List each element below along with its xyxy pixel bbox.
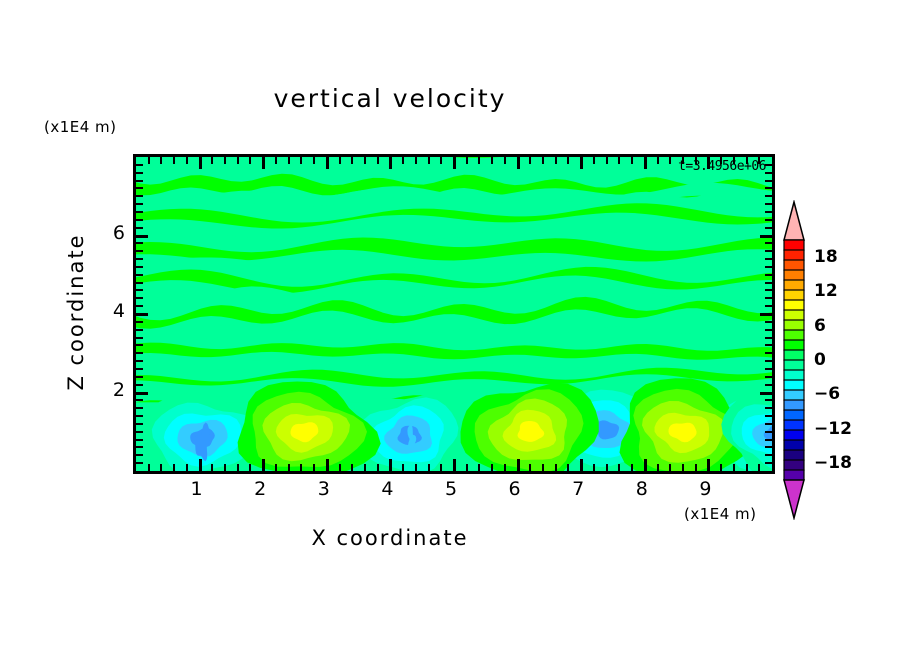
x-tick-major: [262, 459, 265, 471]
colorbar-tick-label: 0: [814, 350, 826, 370]
x-tick-minor: [606, 157, 608, 164]
x-tick-minor: [466, 157, 468, 164]
y-tick-minor: [765, 431, 772, 433]
x-tick-minor: [440, 157, 442, 164]
y-tick-minor: [136, 242, 143, 244]
y-tick-minor: [765, 219, 772, 221]
x-tick-label: 5: [445, 478, 457, 500]
y-tick-minor: [765, 172, 772, 174]
colorbar-band: [784, 460, 804, 470]
x-tick-minor: [300, 464, 302, 471]
y-tick-minor: [136, 203, 143, 205]
x-tick-minor: [555, 464, 557, 471]
y-tick-label: 2: [103, 379, 125, 401]
x-tick-minor: [669, 464, 671, 471]
x-tick-minor: [148, 464, 150, 471]
y-tick-major: [760, 392, 772, 395]
colorbar-tick-label: 12: [814, 281, 838, 301]
colorbar-band: [784, 250, 804, 260]
x-tick-minor: [351, 157, 353, 164]
y-tick-minor: [136, 211, 143, 213]
y-axis-title: Z coordinate: [64, 212, 88, 412]
y-tick-minor: [765, 415, 772, 417]
x-tick-major: [580, 157, 583, 169]
colorbar-tick-label: 18: [814, 247, 838, 267]
colorbar-band: [784, 430, 804, 440]
y-tick-minor: [765, 211, 772, 213]
x-tick-minor: [160, 464, 162, 471]
y-tick-minor: [136, 219, 143, 221]
y-tick-major: [136, 392, 148, 395]
x-tick-minor: [275, 464, 277, 471]
x-tick-minor: [173, 157, 175, 164]
x-tick-minor: [148, 157, 150, 164]
y-tick-minor: [136, 274, 143, 276]
x-tick-major: [453, 157, 456, 169]
y-tick-minor: [136, 454, 143, 456]
x-tick-minor: [402, 157, 404, 164]
colorbar-band: [784, 320, 804, 330]
y-tick-minor: [765, 282, 772, 284]
y-tick-minor: [136, 266, 143, 268]
y-tick-minor: [765, 384, 772, 386]
x-tick-minor: [237, 464, 239, 471]
colorbar-band: [784, 370, 804, 380]
colorbar-band: [784, 450, 804, 460]
y-tick-minor: [765, 227, 772, 229]
x-tick-minor: [402, 464, 404, 471]
y-tick-minor: [136, 180, 143, 182]
y-tick-minor: [136, 368, 143, 370]
y-tick-minor: [765, 187, 772, 189]
colorbar: [782, 200, 806, 520]
x-tick-label: 4: [381, 478, 393, 500]
x-tick-minor: [377, 157, 379, 164]
colorbar-band: [784, 360, 804, 370]
y-tick-minor: [765, 407, 772, 409]
y-tick-minor: [136, 423, 143, 425]
y-tick-minor: [765, 274, 772, 276]
x-tick-minor: [606, 464, 608, 471]
x-tick-major: [199, 157, 202, 169]
x-tick-major: [517, 459, 520, 471]
x-tick-major: [389, 157, 392, 169]
y-tick-minor: [765, 195, 772, 197]
colorbar-tick-label: 6: [814, 316, 826, 336]
x-tick-major: [453, 459, 456, 471]
y-tick-minor: [765, 289, 772, 291]
x-tick-label: 8: [636, 478, 648, 500]
x-tick-minor: [567, 157, 569, 164]
x-tick-minor: [275, 157, 277, 164]
colorbar-band: [784, 290, 804, 300]
y-tick-minor: [136, 439, 143, 441]
x-tick-major: [707, 459, 710, 471]
x-tick-major: [199, 459, 202, 471]
x-tick-minor: [758, 464, 760, 471]
colorbar-band: [784, 340, 804, 350]
x-tick-minor: [618, 464, 620, 471]
x-tick-minor: [720, 464, 722, 471]
x-tick-major: [389, 459, 392, 471]
x-tick-minor: [657, 464, 659, 471]
y-tick-minor: [136, 337, 143, 339]
y-tick-minor: [765, 352, 772, 354]
colorbar-over-arrow: [784, 202, 804, 240]
x-tick-major: [262, 157, 265, 169]
colorbar-band: [784, 380, 804, 390]
x-tick-minor: [593, 464, 595, 471]
y-tick-minor: [765, 203, 772, 205]
colorbar-band: [784, 410, 804, 420]
colorbar-tick-label: −18: [814, 453, 852, 473]
x-tick-minor: [224, 157, 226, 164]
y-tick-major: [760, 235, 772, 238]
x-tick-minor: [428, 157, 430, 164]
y-tick-minor: [136, 384, 143, 386]
y-tick-minor: [765, 368, 772, 370]
x-tick-minor: [491, 464, 493, 471]
colorbar-under-arrow: [784, 480, 804, 518]
x-tick-minor: [733, 464, 735, 471]
x-tick-minor: [504, 464, 506, 471]
x-tick-minor: [491, 157, 493, 164]
y-tick-label: 6: [103, 222, 125, 244]
y-tick-minor: [765, 250, 772, 252]
x-tick-minor: [593, 157, 595, 164]
x-tick-major: [517, 157, 520, 169]
x-tick-minor: [746, 464, 748, 471]
colorbar-band: [784, 260, 804, 270]
x-tick-minor: [249, 157, 251, 164]
y-tick-minor: [136, 462, 143, 464]
x-tick-major: [326, 459, 329, 471]
x-tick-label: 1: [191, 478, 203, 500]
y-tick-minor: [765, 399, 772, 401]
x-tick-minor: [415, 464, 417, 471]
colorbar-swatches: [782, 200, 806, 520]
x-tick-minor: [631, 464, 633, 471]
colorbar-tick-label: −6: [814, 384, 840, 404]
x-tick-minor: [211, 157, 213, 164]
colorbar-band: [784, 280, 804, 290]
y-tick-minor: [136, 289, 143, 291]
colorbar-band: [784, 390, 804, 400]
x-tick-minor: [504, 157, 506, 164]
x-tick-minor: [339, 157, 341, 164]
x-tick-label: 6: [509, 478, 521, 500]
y-tick-minor: [136, 282, 143, 284]
y-tick-minor: [765, 446, 772, 448]
page-title: vertical velocity: [0, 84, 780, 113]
x-tick-minor: [682, 464, 684, 471]
colorbar-band: [784, 330, 804, 340]
x-tick-label: 9: [699, 478, 711, 500]
y-tick-minor: [765, 462, 772, 464]
y-tick-minor: [136, 329, 143, 331]
x-tick-major: [644, 459, 647, 471]
y-tick-minor: [765, 164, 772, 166]
x-tick-minor: [186, 464, 188, 471]
colorbar-band: [784, 240, 804, 250]
y-tick-minor: [765, 329, 772, 331]
y-tick-minor: [136, 344, 143, 346]
colorbar-band: [784, 420, 804, 430]
x-tick-minor: [631, 157, 633, 164]
colorbar-band: [784, 440, 804, 450]
x-tick-minor: [618, 157, 620, 164]
time-stamp-label: t=3.4956e+06: [678, 159, 766, 174]
y-tick-minor: [136, 352, 143, 354]
y-tick-minor: [765, 321, 772, 323]
x-tick-minor: [542, 464, 544, 471]
x-tick-minor: [440, 464, 442, 471]
x-tick-minor: [695, 464, 697, 471]
x-tick-minor: [313, 157, 315, 164]
x-tick-minor: [237, 157, 239, 164]
x-tick-minor: [669, 157, 671, 164]
x-tick-minor: [224, 464, 226, 471]
y-tick-minor: [765, 439, 772, 441]
x-tick-minor: [288, 464, 290, 471]
y-tick-minor: [136, 407, 143, 409]
y-tick-minor: [765, 305, 772, 307]
y-tick-minor: [136, 376, 143, 378]
y-tick-minor: [136, 399, 143, 401]
colorbar-band: [784, 270, 804, 280]
x-tick-minor: [300, 157, 302, 164]
y-tick-minor: [136, 360, 143, 362]
x-tick-minor: [567, 464, 569, 471]
colorbar-band: [784, 400, 804, 410]
x-tick-minor: [478, 464, 480, 471]
y-tick-minor: [765, 454, 772, 456]
y-tick-label: 4: [103, 300, 125, 322]
y-tick-minor: [136, 250, 143, 252]
y-tick-minor: [136, 164, 143, 166]
contour-plot-area: t=3.4956e+06: [133, 154, 775, 474]
y-tick-minor: [765, 180, 772, 182]
y-tick-major: [136, 235, 148, 238]
x-tick-minor: [364, 157, 366, 164]
colorbar-band: [784, 310, 804, 320]
y-tick-minor: [136, 297, 143, 299]
x-tick-minor: [529, 157, 531, 164]
y-tick-minor: [765, 360, 772, 362]
y-tick-major: [760, 313, 772, 316]
x-tick-minor: [555, 157, 557, 164]
x-tick-minor: [351, 464, 353, 471]
x-tick-minor: [466, 464, 468, 471]
x-tick-minor: [428, 464, 430, 471]
x-tick-minor: [339, 464, 341, 471]
x-axis-title: X coordinate: [0, 526, 780, 550]
y-tick-minor: [136, 415, 143, 417]
y-tick-minor: [136, 305, 143, 307]
y-tick-minor: [136, 172, 143, 174]
colorbar-band: [784, 470, 804, 480]
x-tick-major: [644, 157, 647, 169]
x-tick-minor: [173, 464, 175, 471]
y-tick-minor: [765, 266, 772, 268]
y-tick-minor: [765, 337, 772, 339]
x-axis-units-label: (x1E4 m): [684, 505, 757, 523]
x-tick-major: [326, 157, 329, 169]
y-tick-minor: [136, 321, 143, 323]
x-tick-minor: [211, 464, 213, 471]
x-tick-label: 2: [254, 478, 266, 500]
contour-field: [136, 157, 772, 471]
x-tick-minor: [377, 464, 379, 471]
y-tick-minor: [765, 242, 772, 244]
y-axis-units-label: (x1E4 m): [44, 118, 117, 136]
y-tick-minor: [136, 446, 143, 448]
x-tick-minor: [415, 157, 417, 164]
x-tick-major: [580, 459, 583, 471]
y-tick-minor: [765, 423, 772, 425]
colorbar-tick-label: −12: [814, 419, 852, 439]
y-tick-minor: [136, 195, 143, 197]
x-tick-minor: [313, 464, 315, 471]
x-tick-minor: [542, 157, 544, 164]
y-tick-minor: [136, 187, 143, 189]
x-tick-minor: [478, 157, 480, 164]
x-tick-minor: [364, 464, 366, 471]
x-tick-minor: [186, 157, 188, 164]
y-tick-minor: [136, 258, 143, 260]
y-tick-minor: [765, 376, 772, 378]
x-tick-label: 3: [318, 478, 330, 500]
y-tick-minor: [136, 227, 143, 229]
y-tick-minor: [765, 258, 772, 260]
x-tick-minor: [249, 464, 251, 471]
x-tick-minor: [657, 157, 659, 164]
y-tick-major: [136, 313, 148, 316]
x-tick-minor: [529, 464, 531, 471]
y-tick-minor: [765, 344, 772, 346]
y-tick-minor: [136, 431, 143, 433]
x-tick-minor: [288, 157, 290, 164]
y-tick-minor: [765, 297, 772, 299]
x-tick-minor: [160, 157, 162, 164]
x-tick-label: 7: [572, 478, 584, 500]
colorbar-band: [784, 300, 804, 310]
colorbar-band: [784, 350, 804, 360]
